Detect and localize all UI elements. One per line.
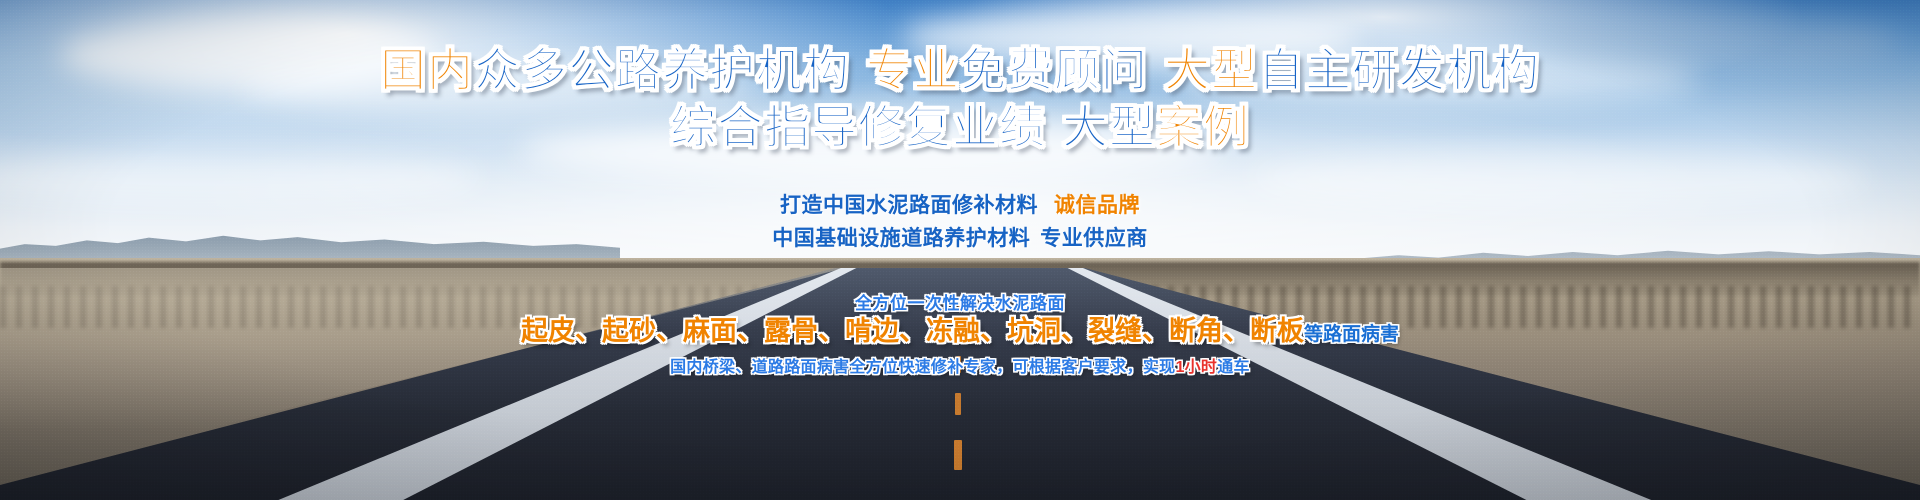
promo-footer-pre: 国内桥梁、道路路面病害全方位快速修补专家，可根据客户要求，实现 [670, 359, 1175, 376]
headline2-seg-zonghe: 综合指导修复业绩 [670, 101, 1046, 153]
headline-seg-mianfei: 免费顾问 [960, 44, 1148, 96]
promotional-banner: 国内众多公路养护机构专业免费顾问大型自主研发机构 综合指导修复业绩大型案例 打造… [0, 0, 1920, 500]
headline-seg-zhongduo: 众多公路养护机构 [474, 44, 850, 96]
promo-footer-post: 通车 [1217, 359, 1250, 376]
promo-footer-line: 国内桥梁、道路路面病害全方位快速修补专家，可根据客户要求，实现1小时通车 [0, 360, 1920, 376]
headline-line-1: 国内众多公路养护机构专业免费顾问大型自主研发机构 [0, 47, 1920, 93]
promo-tagline: 全方位一次性解决水泥路面 [0, 295, 1920, 312]
headline2-seg-daxing: 大型 [1062, 101, 1156, 153]
banner-content: 国内众多公路养护机构专业免费顾问大型自主研发机构 综合指导修复业绩大型案例 打造… [0, 0, 1920, 500]
promo-defects-highlight: 起皮、起砂、麻面、露骨、啃边、冻融、坑洞、裂缝、断角、断板 [521, 316, 1304, 346]
headline-seg-zhuanye: 专业 [866, 44, 960, 96]
promo-footer-highlight: 1小时 [1175, 359, 1217, 376]
headline-line-2: 综合指导修复业绩大型案例 [0, 104, 1920, 150]
headline-seg-zizhu: 自主研发机构 [1258, 44, 1540, 96]
subtitle2-seg-supplier: 专业供应商 [1040, 227, 1148, 250]
subtitle1-seg-brand: 诚信品牌 [1054, 194, 1140, 217]
headline-seg-guonei: 国内 [380, 44, 474, 96]
subtitle2-seg-main: 中国基础设施道路养护材料 [772, 227, 1030, 250]
subtitle-line-1: 打造中国水泥路面修补材料诚信品牌 [0, 195, 1920, 216]
promo-defects-suffix: 等路面病害 [1304, 324, 1399, 345]
headline-seg-daxing: 大型 [1164, 44, 1258, 96]
subtitle1-seg-main: 打造中国水泥路面修补材料 [780, 194, 1038, 217]
promo-defects-line: 起皮、起砂、麻面、露骨、啃边、冻融、坑洞、裂缝、断角、断板等路面病害 [0, 318, 1920, 345]
headline2-seg-anli: 案例 [1156, 101, 1250, 153]
promo-tagline-text: 全方位一次性解决水泥路面 [855, 294, 1065, 313]
subtitle-line-2: 中国基础设施道路养护材料专业供应商 [0, 228, 1920, 249]
